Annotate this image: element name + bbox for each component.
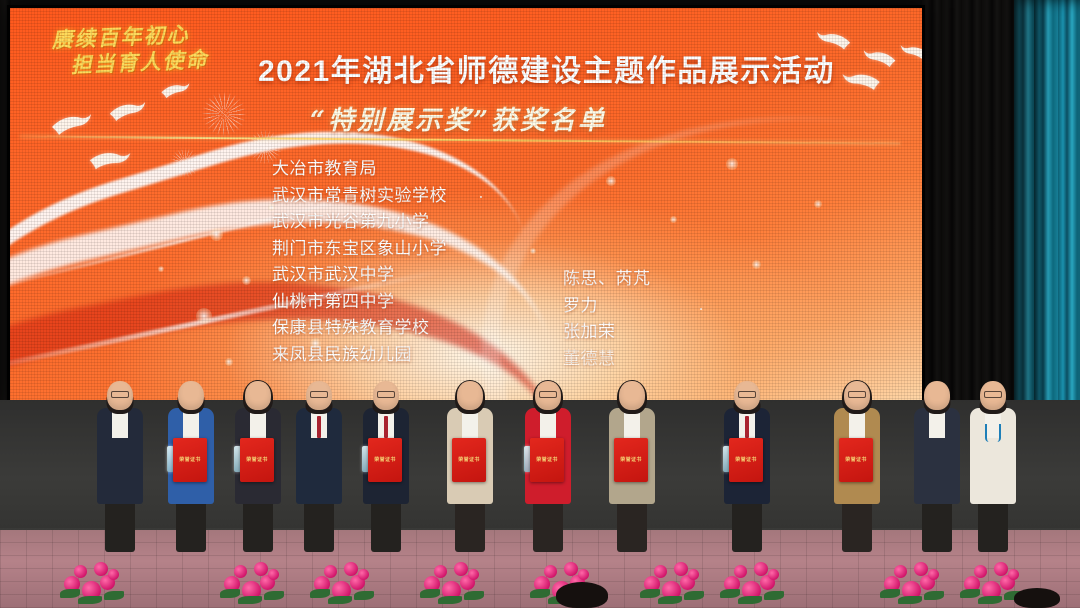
award-list-item: 来凤县民族幼儿园 xyxy=(272,342,447,369)
flower-bloom xyxy=(454,562,468,576)
flower-bloom xyxy=(578,569,589,580)
person-head xyxy=(924,381,950,410)
honor-certificate: 荣誉证书 xyxy=(614,438,648,482)
flower-leaf xyxy=(220,589,240,598)
flower-leaf xyxy=(464,591,484,600)
honor-certificate: 荣誉证书 xyxy=(729,438,763,482)
flower-bloom xyxy=(434,565,447,578)
person-legs xyxy=(243,498,273,552)
certificate-label: 荣誉证书 xyxy=(458,457,480,463)
flower-leaf xyxy=(720,589,740,598)
person-legs xyxy=(842,498,872,552)
flower-leaf xyxy=(530,589,550,598)
flower-leaf xyxy=(658,596,682,604)
bokeh-particle xyxy=(196,308,212,324)
firework-burst-icon xyxy=(170,148,200,178)
honor-certificate: 荣誉证书 xyxy=(452,438,486,482)
flower-bloom xyxy=(108,569,119,580)
slogan-line-2: 担当育人使命 xyxy=(70,46,209,78)
award-list-item: 仙桃市第四中学 xyxy=(272,289,447,316)
person-official xyxy=(293,370,345,552)
bokeh-particle xyxy=(530,248,536,254)
flower-bloom xyxy=(734,565,747,578)
eyeglasses-icon xyxy=(539,391,557,398)
flower-leaf xyxy=(640,589,660,598)
award-list-item: 荆门市东宝区象山小学 xyxy=(272,236,447,263)
bokeh-particle xyxy=(242,276,251,285)
award-list-item: 大冶市教育局 xyxy=(272,156,447,183)
flower-bloom xyxy=(544,565,557,578)
flower-arrangement xyxy=(60,560,124,604)
bokeh-particle xyxy=(606,176,616,186)
flower-arrangement xyxy=(420,560,484,604)
person-legs xyxy=(533,498,563,552)
award-list-item: 董德慧 xyxy=(563,346,651,373)
flower-leaf xyxy=(328,596,352,604)
person-legs xyxy=(617,498,647,552)
honor-certificate: 荣誉证书 xyxy=(368,438,402,482)
flower-leaf xyxy=(960,589,980,598)
flower-leaf xyxy=(880,589,900,598)
award-list-item: 罗力 xyxy=(563,293,651,320)
flower-leaf xyxy=(978,596,1002,604)
eyeglasses-icon xyxy=(738,391,756,398)
person-head xyxy=(245,381,271,410)
flower-bloom xyxy=(768,569,779,580)
certificate-label: 荣誉证书 xyxy=(374,457,396,463)
flower-arrangement xyxy=(310,560,374,604)
flower-bloom xyxy=(564,562,578,576)
flower-arrangement xyxy=(880,560,944,604)
stage-photo: 赓续百年初心 担当育人使命 2021年湖北省师德建设主题作品展示活动 “特别展示… xyxy=(0,0,1080,608)
flower-bloom xyxy=(324,565,337,578)
person-awardee: 荣誉证书 xyxy=(165,370,217,552)
award-list-right: 陈思、芮芃罗力张加荣董德慧 xyxy=(563,266,651,372)
award-list-item: 武汉市光谷第九小学 xyxy=(272,209,447,236)
flower-leaf xyxy=(420,589,440,598)
flower-bloom xyxy=(674,562,688,576)
flower-leaf xyxy=(104,591,124,600)
person-awardee: 荣誉证书 xyxy=(721,370,773,552)
flower-bloom xyxy=(254,562,268,576)
person-awardee: 荣誉证书 xyxy=(232,370,284,552)
certificate-label: 荣誉证书 xyxy=(246,457,268,463)
flower-leaf xyxy=(764,591,784,600)
person-awardee: 荣誉证书 xyxy=(444,370,496,552)
eyeglasses-icon xyxy=(310,391,328,398)
person-legs xyxy=(371,498,401,552)
flower-bloom xyxy=(654,565,667,578)
sparkle xyxy=(700,308,702,310)
certificate-label: 荣誉证书 xyxy=(536,457,558,463)
flower-bloom xyxy=(914,562,928,576)
person-legs xyxy=(105,498,135,552)
led-screen: 赓续百年初心 担当育人使命 2021年湖北省师德建设主题作品展示活动 “特别展示… xyxy=(10,8,922,402)
flower-bloom xyxy=(894,565,907,578)
person-awardee: 荣誉证书 xyxy=(360,370,412,552)
flower-leaf xyxy=(438,596,462,604)
person-host xyxy=(911,370,963,552)
ribbon-shape-orange-right xyxy=(487,152,922,402)
flower-bloom xyxy=(974,565,987,578)
person-necktie xyxy=(317,416,321,438)
flower-leaf xyxy=(354,591,374,600)
honor-certificate: 荣誉证书 xyxy=(839,438,873,482)
person-head xyxy=(619,381,645,410)
flower-bloom xyxy=(234,565,247,578)
bokeh-particle xyxy=(814,200,822,208)
award-list-item: 武汉市武汉中学 xyxy=(272,262,447,289)
flower-bloom xyxy=(994,562,1008,576)
award-list-item: 陈思、芮芃 xyxy=(563,266,651,293)
certificate-label: 荣誉证书 xyxy=(735,457,757,463)
award-list-item: 保康县特殊教育学校 xyxy=(272,315,447,342)
flower-bloom xyxy=(1008,569,1019,580)
flower-leaf xyxy=(264,591,284,600)
bokeh-particle xyxy=(726,158,738,170)
flower-bloom xyxy=(468,569,479,580)
flower-leaf xyxy=(738,596,762,604)
flower-leaf xyxy=(238,596,262,604)
dove-icon xyxy=(84,145,133,177)
flower-arrangement xyxy=(640,560,704,604)
person-lanyard xyxy=(985,424,1001,442)
certificate-label: 荣誉证书 xyxy=(620,457,642,463)
firework-burst-icon xyxy=(202,92,246,136)
person-head xyxy=(178,381,204,410)
flower-bloom xyxy=(94,562,108,576)
honor-certificate: 荣誉证书 xyxy=(240,438,274,482)
person-host xyxy=(967,370,1019,552)
eyeglasses-icon xyxy=(377,391,395,398)
flower-leaf xyxy=(924,591,944,600)
flower-bloom xyxy=(928,569,939,580)
dove-icon xyxy=(108,100,146,124)
flower-leaf xyxy=(898,596,922,604)
bokeh-particle xyxy=(210,228,223,241)
honor-certificate: 荣誉证书 xyxy=(530,438,564,482)
dove-icon xyxy=(160,81,190,101)
flower-arrangement xyxy=(220,560,284,604)
person-legs xyxy=(455,498,485,552)
award-list-item: 武汉市常青树实验学校 xyxy=(272,183,447,210)
person-legs xyxy=(922,498,952,552)
bokeh-particle xyxy=(752,260,761,269)
award-list-item: 张加荣 xyxy=(563,319,651,346)
eyeglasses-icon xyxy=(848,391,866,398)
flower-bloom xyxy=(358,569,369,580)
eyeglasses-icon xyxy=(111,391,129,398)
person-awardee: 荣誉证书 xyxy=(522,370,574,552)
audience-silhouette xyxy=(556,582,608,608)
dove-icon xyxy=(900,43,922,63)
bokeh-particle xyxy=(225,358,233,366)
person-necktie xyxy=(384,416,388,438)
award-list-left: 大冶市教育局武汉市常青树实验学校武汉市光谷第九小学荆门市东宝区象山小学武汉市武汉… xyxy=(272,156,447,368)
person-legs xyxy=(732,498,762,552)
person-legs xyxy=(978,498,1008,552)
flower-arrangement xyxy=(720,560,784,604)
flower-bloom xyxy=(754,562,768,576)
flower-leaf xyxy=(684,591,704,600)
flower-bloom xyxy=(344,562,358,576)
slogan-calligraphy: 赓续百年初心 担当育人使命 xyxy=(51,21,209,79)
person-head xyxy=(457,381,483,410)
person-awardee: 荣誉证书 xyxy=(831,370,883,552)
person-legs xyxy=(176,498,206,552)
sparkle xyxy=(480,196,482,198)
event-main-title: 2021年湖北省师德建设主题作品展示活动 xyxy=(258,46,878,90)
eyeglasses-icon xyxy=(984,391,1002,398)
person-legs xyxy=(304,498,334,552)
event-sub-title: “特别展示奖”获奖名单 xyxy=(310,100,730,137)
flower-leaf xyxy=(310,589,330,598)
person-awardee: 荣誉证书 xyxy=(606,370,658,552)
bokeh-particle xyxy=(158,266,164,272)
bokeh-particle xyxy=(670,216,677,223)
audience-silhouette xyxy=(1014,588,1060,608)
dove-icon xyxy=(50,112,92,138)
flower-leaf xyxy=(60,589,80,598)
flower-bloom xyxy=(74,565,87,578)
flower-bloom xyxy=(688,569,699,580)
flower-leaf xyxy=(78,596,102,604)
person-awardee xyxy=(94,370,146,552)
honor-certificate: 荣誉证书 xyxy=(173,438,207,482)
flower-bloom xyxy=(268,569,279,580)
person-necktie xyxy=(745,416,749,438)
certificate-label: 荣誉证书 xyxy=(845,457,867,463)
certificate-label: 荣誉证书 xyxy=(179,457,201,463)
